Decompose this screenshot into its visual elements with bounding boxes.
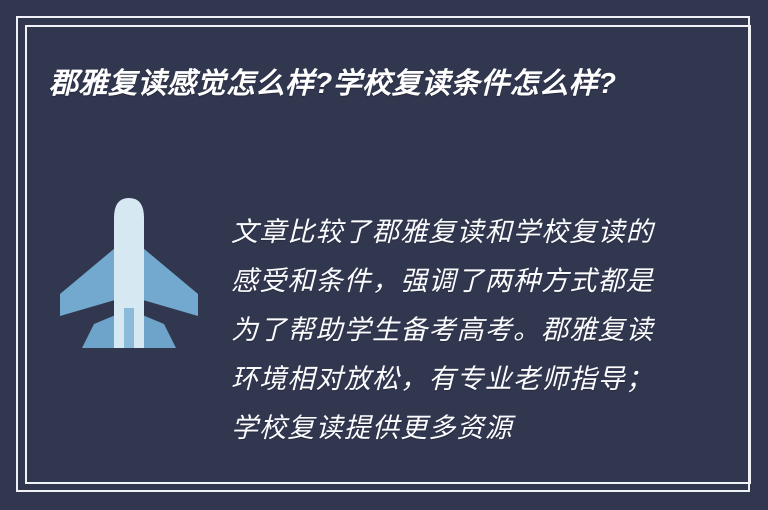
- article-cover-banner: 郡雅复读感觉怎么样?学校复读条件怎么样? 文章比较了郡雅复读和学校复读的感受和条…: [0, 0, 768, 510]
- page-title: 郡雅复读感觉怎么样?学校复读条件怎么样?: [49, 62, 649, 107]
- border-mask-bottom: [0, 493, 768, 510]
- airplane-icon: [56, 196, 202, 356]
- border-mask-right: [752, 0, 768, 510]
- article-summary-text: 文章比较了郡雅复读和学校复读的感受和条件，强调了两种方式都是为了帮助学生备考高考…: [231, 208, 655, 453]
- airplane-illustration: [56, 196, 202, 356]
